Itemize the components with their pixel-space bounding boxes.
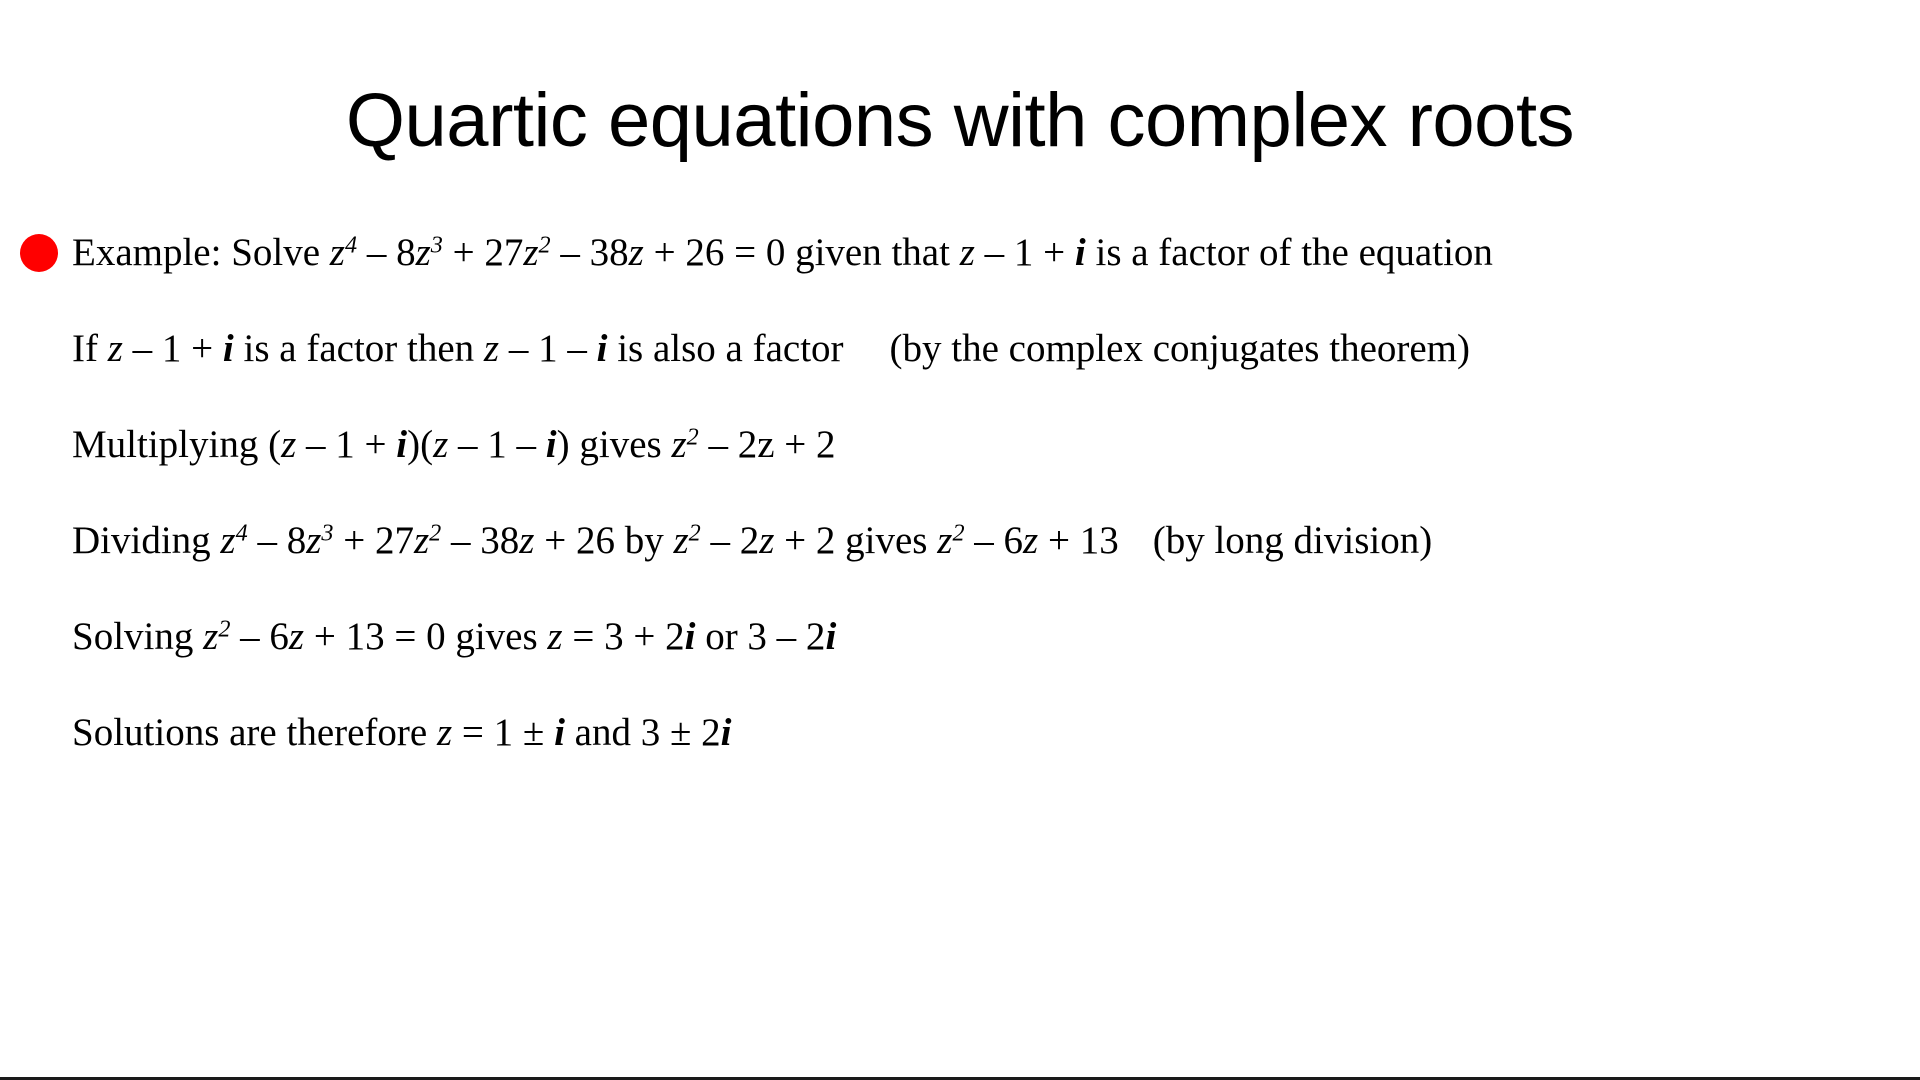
text-run: is a factor of the equation	[1086, 231, 1493, 274]
bullet-dot-icon	[20, 234, 58, 272]
math-variable: z	[523, 231, 538, 274]
text-run: – 2	[701, 519, 760, 562]
body-line-solutions-text: Solutions are therefore z = 1 ± i and 3 …	[72, 709, 731, 757]
text-run: – 8	[248, 519, 307, 562]
text-run: – 6	[965, 519, 1024, 562]
text-run: – 1 –	[499, 327, 597, 370]
text-run: – 38	[441, 519, 519, 562]
math-variable: z	[519, 519, 534, 562]
math-imaginary-unit: i	[223, 327, 234, 370]
math-variable: z	[330, 231, 345, 274]
body-line-multiplying-text: Multiplying (z – 1 + i)(z – 1 – i) gives…	[72, 421, 836, 469]
math-variable: z	[289, 615, 304, 658]
math-variable: z	[203, 615, 218, 658]
math-imaginary-unit: i	[1075, 231, 1086, 274]
math-variable: z	[433, 423, 448, 466]
math-variable: z	[960, 231, 975, 274]
body-line-dividing: Dividing z4 – 8z3 + 27z2 – 38z + 26 by z…	[0, 493, 1920, 589]
text-run: If	[72, 327, 108, 370]
text-run: + 27	[443, 231, 524, 274]
text-run: Solutions are therefore	[72, 711, 437, 754]
math-imaginary-unit: i	[685, 615, 696, 658]
math-imaginary-unit: i	[825, 615, 836, 658]
text-run: ) gives	[557, 423, 672, 466]
math-exponent: 3	[431, 231, 443, 258]
math-variable: z	[220, 519, 235, 562]
math-variable: z	[629, 231, 644, 274]
text-run: – 2z + 2	[699, 423, 836, 466]
text-run: + 26 = 0 given that	[644, 231, 960, 274]
math-imaginary-unit: i	[546, 423, 557, 466]
math-exponent: 2	[218, 615, 230, 642]
math-exponent: 2	[952, 519, 964, 546]
math-exponent: 4	[345, 231, 357, 258]
math-variable: z	[306, 519, 321, 562]
text-run: + 26 by	[534, 519, 673, 562]
math-variable: z	[1023, 519, 1038, 562]
text-run: is a factor then	[234, 327, 484, 370]
body-line-example: Example: Solve z4 – 8z3 + 27z2 – 38z + 2…	[0, 205, 1920, 301]
math-variable: z	[414, 519, 429, 562]
body-line-conjugate: If z – 1 + i is a factor then z – 1 – i …	[0, 301, 1920, 397]
body-line-example-text: Example: Solve z4 – 8z3 + 27z2 – 38z + 2…	[72, 229, 1493, 277]
text-run: is also a factor	[607, 327, 843, 370]
math-variable: z	[416, 231, 431, 274]
body-line-dividing-text: Dividing z4 – 8z3 + 27z2 – 38z + 26 by z…	[72, 517, 1432, 565]
math-variable: z	[108, 327, 123, 370]
math-variable: z	[437, 711, 452, 754]
slide-body: Example: Solve z4 – 8z3 + 27z2 – 38z + 2…	[0, 205, 1920, 781]
math-variable: z	[673, 519, 688, 562]
math-variable: z	[547, 615, 562, 658]
math-imaginary-unit: i	[396, 423, 407, 466]
text-run: = 3 + 2	[563, 615, 685, 658]
text-run: – 1 +	[296, 423, 396, 466]
text-run: – 1 +	[123, 327, 223, 370]
math-variable: z	[281, 423, 296, 466]
math-imaginary-unit: i	[597, 327, 608, 370]
text-run: + 13	[1038, 519, 1119, 562]
text-run: – 6	[230, 615, 289, 658]
text-run: – 38	[551, 231, 629, 274]
math-exponent: 2	[687, 423, 699, 450]
math-imaginary-unit: i	[721, 711, 732, 754]
math-variable: z	[671, 423, 686, 466]
math-variable: z	[759, 519, 774, 562]
text-run: + 13 = 0 gives	[304, 615, 547, 658]
page-title: Quartic equations with complex roots	[0, 78, 1920, 164]
body-line-multiplying: Multiplying (z – 1 + i)(z – 1 – i) gives…	[0, 397, 1920, 493]
side-note: (by long division)	[1153, 519, 1433, 562]
math-imaginary-unit: i	[554, 711, 565, 754]
math-variable: z	[937, 519, 952, 562]
body-line-solutions: Solutions are therefore z = 1 ± i and 3 …	[0, 685, 1920, 781]
math-exponent: 2	[429, 519, 441, 546]
text-run: and 3 ± 2	[565, 711, 721, 754]
body-line-conjugate-text: If z – 1 + i is a factor then z – 1 – i …	[72, 325, 1470, 373]
text-run: )(	[407, 423, 433, 466]
side-note: (by the complex conjugates theorem)	[890, 327, 1470, 370]
math-exponent: 3	[321, 519, 333, 546]
text-run: or 3 – 2	[695, 615, 825, 658]
text-run: Example: Solve	[72, 231, 330, 274]
text-run: + 27	[333, 519, 414, 562]
text-run: Multiplying (	[72, 423, 281, 466]
slide-canvas: Quartic equations with complex roots Exa…	[0, 0, 1920, 1080]
body-line-solving: Solving z2 – 6z + 13 = 0 gives z = 3 + 2…	[0, 589, 1920, 685]
math-exponent: 2	[689, 519, 701, 546]
text-run: – 1 +	[975, 231, 1075, 274]
text-run: = 1 ±	[452, 711, 554, 754]
math-exponent: 2	[539, 231, 551, 258]
math-exponent: 4	[236, 519, 248, 546]
math-variable: z	[484, 327, 499, 370]
text-run: Solving	[72, 615, 203, 658]
text-run: – 8	[357, 231, 416, 274]
body-line-solving-text: Solving z2 – 6z + 13 = 0 gives z = 3 + 2…	[72, 613, 836, 661]
text-run: + 2 gives	[774, 519, 937, 562]
text-run: Dividing	[72, 519, 220, 562]
text-run: – 1 –	[448, 423, 546, 466]
